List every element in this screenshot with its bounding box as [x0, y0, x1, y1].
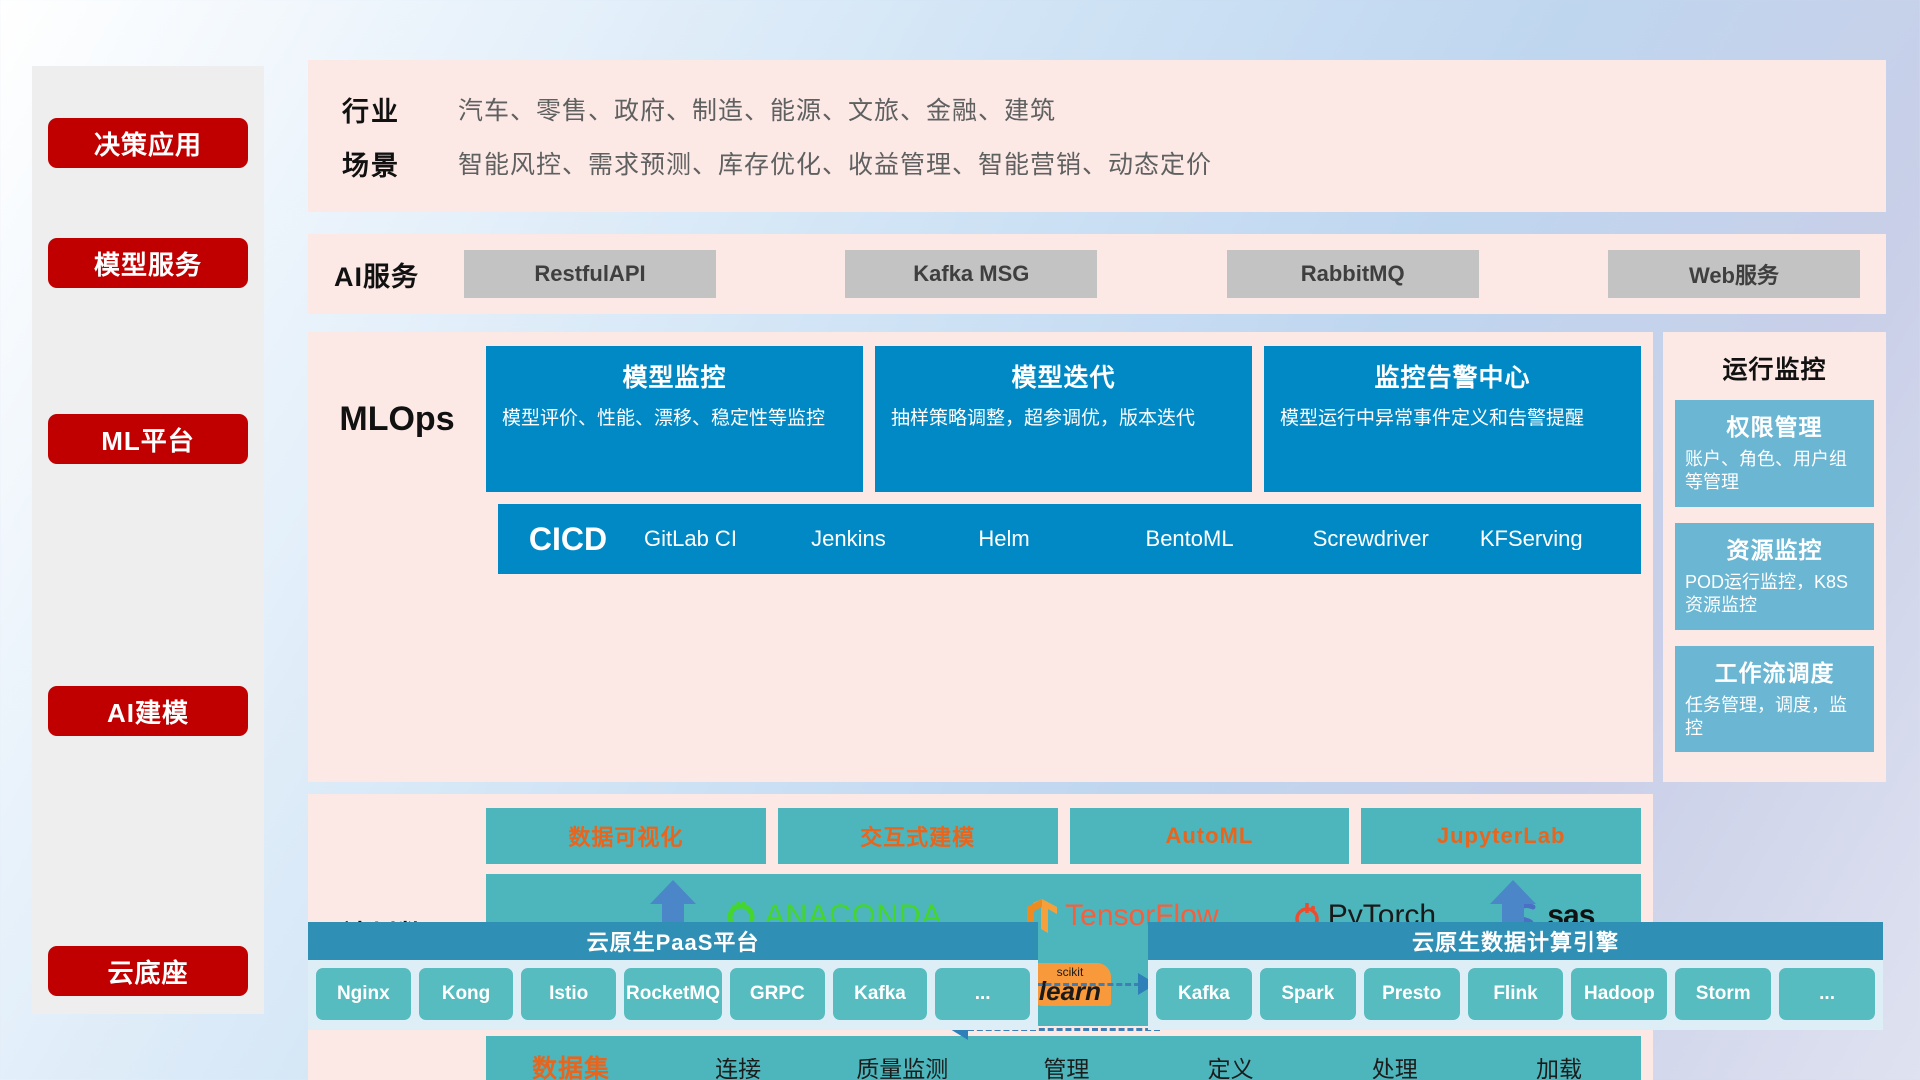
mlops-card-list: 模型监控 模型评价、性能、漂移、稳定性等监控 模型迭代 抽样策略调整，超参调优，… — [486, 346, 1653, 492]
mlops-label: MLOps — [308, 346, 486, 492]
sidebar-item-ai-modeling[interactable]: AI建模 — [48, 686, 248, 736]
cicd-item-helm[interactable]: Helm — [972, 528, 1139, 550]
sidebar-item-label: 模型服务 — [94, 245, 202, 282]
dataset-item-loading[interactable]: 加载 — [1477, 1050, 1641, 1080]
sidebar-item-decision-apps[interactable]: 决策应用 — [48, 118, 248, 168]
card-desc: 模型运行中异常事件定义和告警提醒 — [1280, 406, 1625, 432]
card-desc: 模型评价、性能、漂移、稳定性等监控 — [502, 406, 847, 432]
card-title: 模型监控 — [502, 358, 847, 394]
sidebar-item-label: 云底座 — [107, 953, 188, 990]
cicd-item-jenkins[interactable]: Jenkins — [805, 528, 972, 550]
dataset-item-processing[interactable]: 处理 — [1313, 1050, 1477, 1080]
data-engine-chip-presto[interactable]: Presto — [1364, 968, 1460, 1020]
cicd-label: CICD — [498, 521, 638, 558]
monitor-card-resource[interactable]: 资源监控 POD运行监控，K8S资源监控 — [1675, 523, 1874, 630]
scenario-label: 场景 — [308, 144, 458, 183]
monitor-card-permission[interactable]: 权限管理 账户、角色、用户组等管理 — [1675, 400, 1874, 507]
cicd-item-bentoml[interactable]: BentoML — [1140, 528, 1307, 550]
dataset-item-quality-monitoring[interactable]: 质量监测 — [820, 1050, 984, 1080]
ai-service-label: AI服务 — [334, 255, 464, 294]
tool-chip-interactive-modeling[interactable]: 交互式建模 — [778, 808, 1058, 864]
card-title: 模型迭代 — [891, 358, 1236, 394]
ai-service-section: AI服务 RestfulAPI Kafka MSG RabbitMQ Web服务 — [308, 234, 1886, 314]
card-desc: POD运行监控，K8S资源监控 — [1685, 571, 1864, 618]
sidebar-item-label: AI建模 — [107, 693, 189, 730]
industry-values: 汽车、零售、政府、制造、能源、文旅、金融、建筑 — [458, 91, 1056, 127]
paas-header: 云原生PaaS平台 — [308, 922, 1038, 960]
data-engine-chip-kafka[interactable]: Kafka — [1156, 968, 1252, 1020]
card-title: 权限管理 — [1685, 408, 1864, 442]
scenario-values: 智能风控、需求预测、库存优化、收益管理、智能营销、动态定价 — [458, 145, 1212, 181]
ai-service-chip-rabbitmq[interactable]: RabbitMQ — [1227, 250, 1479, 298]
mlops-card-model-monitoring[interactable]: 模型监控 模型评价、性能、漂移、稳定性等监控 — [486, 346, 863, 492]
industry-label: 行业 — [308, 90, 458, 129]
cicd-bar: CICD GitLab CI Jenkins Helm BentoML Scre… — [498, 504, 1641, 574]
paas-chip-more[interactable]: ... — [935, 968, 1030, 1020]
data-engine-header: 云原生数据计算引擎 — [1148, 922, 1883, 960]
card-title: 工作流调度 — [1685, 654, 1864, 688]
paas-chip-kong[interactable]: Kong — [419, 968, 514, 1020]
dataset-item-definition[interactable]: 定义 — [1149, 1050, 1313, 1080]
layer-label-sidebar: 决策应用 模型服务 ML平台 AI建模 云底座 — [32, 66, 264, 1014]
ml-platform-row: MLOps 模型监控 模型评价、性能、漂移、稳定性等监控 模型迭代 抽样策略调整… — [308, 332, 1886, 782]
data-engine-chip-more[interactable]: ... — [1779, 968, 1875, 1020]
cloud-native-data-engine-group: 云原生数据计算引擎 Kafka Spark Presto Flink Hadoo… — [1148, 922, 1883, 1030]
paas-chip-nginx[interactable]: Nginx — [316, 968, 411, 1020]
paas-chip-rocketmq[interactable]: RocketMQ — [624, 968, 722, 1020]
ai-service-chip-list: RestfulAPI Kafka MSG RabbitMQ Web服务 — [464, 250, 1860, 298]
tool-chip-automl[interactable]: AutoML — [1070, 808, 1350, 864]
mlops-card-model-iteration[interactable]: 模型迭代 抽样策略调整，超参调优，版本迭代 — [875, 346, 1252, 492]
data-engine-chip-flink[interactable]: Flink — [1468, 968, 1564, 1020]
cicd-item-kfserving[interactable]: KFServing — [1474, 528, 1641, 550]
tool-chip-data-visualization[interactable]: 数据可视化 — [486, 808, 766, 864]
cloud-base-section: 云原生PaaS平台 Nginx Kong Istio RocketMQ GRPC… — [308, 880, 1908, 1040]
dataset-item-management[interactable]: 管理 — [984, 1050, 1148, 1080]
scenario-row: 场景 智能风控、需求预测、库存优化、收益管理、智能营销、动态定价 — [308, 136, 1886, 190]
ai-service-chip-kafka-msg[interactable]: Kafka MSG — [845, 250, 1097, 298]
cicd-item-gitlab-ci[interactable]: GitLab CI — [638, 528, 805, 550]
mlops-section: MLOps 模型监控 模型评价、性能、漂移、稳定性等监控 模型迭代 抽样策略调整… — [308, 332, 1653, 782]
paas-chip-list: Nginx Kong Istio RocketMQ GRPC Kafka ... — [308, 960, 1038, 1030]
paas-chip-grpc[interactable]: GRPC — [730, 968, 825, 1020]
cicd-item-list: GitLab CI Jenkins Helm BentoML Screwdriv… — [638, 528, 1641, 550]
paas-chip-istio[interactable]: Istio — [521, 968, 616, 1020]
card-title: 监控告警中心 — [1280, 358, 1625, 394]
sidebar-item-label: ML平台 — [101, 421, 195, 458]
data-engine-chip-spark[interactable]: Spark — [1260, 968, 1356, 1020]
paas-chip-kafka[interactable]: Kafka — [833, 968, 928, 1020]
tool-chip-jupyterlab[interactable]: JupyterLab — [1361, 808, 1641, 864]
runtime-monitor-title: 运行监控 — [1675, 350, 1874, 386]
sidebar-item-label: 决策应用 — [94, 125, 202, 162]
runtime-monitor-section: 运行监控 权限管理 账户、角色、用户组等管理 资源监控 POD运行监控，K8S资… — [1663, 332, 1886, 782]
data-engine-chip-storm[interactable]: Storm — [1675, 968, 1771, 1020]
dataset-label: 数据集 — [486, 1049, 656, 1080]
card-desc: 任务管理，调度，监控 — [1685, 694, 1864, 741]
sidebar-item-model-service[interactable]: 模型服务 — [48, 238, 248, 288]
ml-lab-tool-list: 数据可视化 交互式建模 AutoML JupyterLab — [486, 808, 1641, 864]
ai-service-chip-restfulapi[interactable]: RestfulAPI — [464, 250, 716, 298]
dataset-item-connect[interactable]: 连接 — [656, 1050, 820, 1080]
card-title: 资源监控 — [1685, 531, 1864, 565]
data-engine-chip-list: Kafka Spark Presto Flink Hadoop Storm ..… — [1148, 960, 1883, 1030]
dataset-bar: 数据集 连接 质量监测 管理 定义 处理 加载 — [486, 1036, 1641, 1080]
cicd-item-screwdriver[interactable]: Screwdriver — [1307, 528, 1474, 550]
card-desc: 账户、角色、用户组等管理 — [1685, 448, 1864, 495]
sidebar-item-ml-platform[interactable]: ML平台 — [48, 414, 248, 464]
ai-service-chip-web-service[interactable]: Web服务 — [1608, 250, 1860, 298]
data-engine-chip-hadoop[interactable]: Hadoop — [1571, 968, 1667, 1020]
mlops-card-alert-center[interactable]: 监控告警中心 模型运行中异常事件定义和告警提醒 — [1264, 346, 1641, 492]
card-desc: 抽样策略调整，超参调优，版本迭代 — [891, 406, 1236, 432]
cloud-native-paas-group: 云原生PaaS平台 Nginx Kong Istio RocketMQ GRPC… — [308, 922, 1038, 1030]
decision-apps-section: 行业 汽车、零售、政府、制造、能源、文旅、金融、建筑 场景 智能风控、需求预测、… — [308, 60, 1886, 212]
industry-row: 行业 汽车、零售、政府、制造、能源、文旅、金融、建筑 — [308, 82, 1886, 136]
sidebar-item-cloud-base[interactable]: 云底座 — [48, 946, 248, 996]
monitor-card-workflow[interactable]: 工作流调度 任务管理，调度，监控 — [1675, 646, 1874, 753]
dataset-item-list: 连接 质量监测 管理 定义 处理 加载 — [656, 1050, 1641, 1080]
